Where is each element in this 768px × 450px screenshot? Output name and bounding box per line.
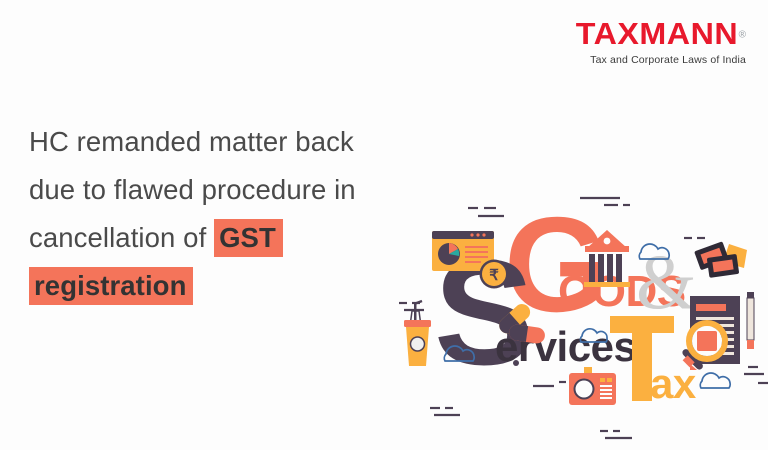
headline-line-1: HC remanded matter back (29, 118, 449, 166)
headline-highlight-gst: GST (214, 219, 283, 257)
headline-line-3-plain: cancellation of (29, 222, 214, 253)
camera-icon (569, 367, 616, 405)
headline-line-4: registration (29, 262, 449, 310)
cloud-icon (700, 373, 730, 388)
registered-trademark-icon: ® (739, 30, 746, 41)
rupee-coin-icon: ₹ (480, 260, 509, 289)
pencil-icon (747, 292, 754, 349)
headline-highlight-registration: registration (29, 267, 193, 305)
logo-wordmark-row: TAXMANN® (582, 18, 746, 49)
ampersand-symbol: & (636, 238, 697, 325)
headline-line-2: due to flawed procedure in (29, 166, 449, 214)
taxmann-logo[interactable]: TAXMANN® Tax and Corporate Laws of India (582, 18, 746, 66)
taxmann-news-banner: TAXMANN® Tax and Corporate Laws of India… (0, 0, 768, 450)
dot-decoration (513, 360, 519, 366)
svg-text:₹: ₹ (489, 267, 499, 284)
logo-tagline: Tax and Corporate Laws of India (582, 55, 746, 66)
page-title: HC remanded matter back due to flawed pr… (29, 118, 449, 310)
logo-wordmark: TAXMANN (576, 18, 738, 49)
headline-line-3: cancellation of GST (29, 214, 449, 262)
gst-illustration: G OODS & S ervices ax (392, 186, 768, 450)
